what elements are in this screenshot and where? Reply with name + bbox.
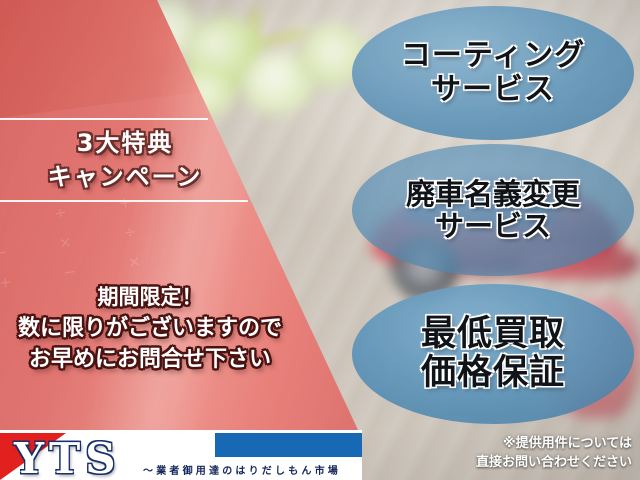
logo-tagline: ～業者御用達のはりだしもん市場 [143, 462, 358, 477]
service-price-guarantee-line-1: 最低買取 [421, 315, 565, 354]
urgency-line-1: 期間限定！ [0, 282, 300, 313]
headline-rule-top [0, 118, 208, 120]
service-badge-deregistration[interactable]: 廃車名義変更 サービス [352, 144, 634, 276]
footnote-line-1: ※提供用件については [342, 434, 632, 453]
urgency-line-3: お早めにお問合せ下さい [0, 344, 300, 375]
service-deregistration-line-1: 廃車名義変更 [406, 178, 580, 210]
footnote: ※提供用件については 直接お問い合わせください [342, 434, 632, 472]
headline-line-2: キャンペーン [0, 160, 250, 194]
urgency-message: 期間限定！ 数に限りがございますので お早めにお問合せ下さい [0, 282, 300, 375]
logo-strip: YTS ～業者御用達のはりだしもん市場 [0, 430, 362, 480]
service-price-guarantee-line-2: 価格保証 [421, 354, 565, 393]
urgency-line-2: 数に限りがございますので [0, 313, 300, 344]
footnote-line-2: 直接お問い合わせください [342, 453, 632, 472]
service-coating-line-2: サービス [431, 73, 555, 107]
service-deregistration-line-2: サービス [435, 210, 551, 242]
headline-rule-bottom [0, 200, 248, 202]
campaign-headline: 3大特典 キャンペーン [0, 126, 250, 194]
headline-line-1: 3大特典 [0, 126, 250, 160]
service-badge-price-guarantee[interactable]: 最低買取 価格保証 [352, 284, 634, 424]
service-coating-line-1: コーティング [401, 39, 585, 73]
service-badge-coating[interactable]: コーティング サービス [352, 6, 634, 140]
campaign-banner: × ÷ + − × ÷ + − × 3大特典 キャンペーン 期間限定！ 数に限り… [0, 0, 640, 480]
